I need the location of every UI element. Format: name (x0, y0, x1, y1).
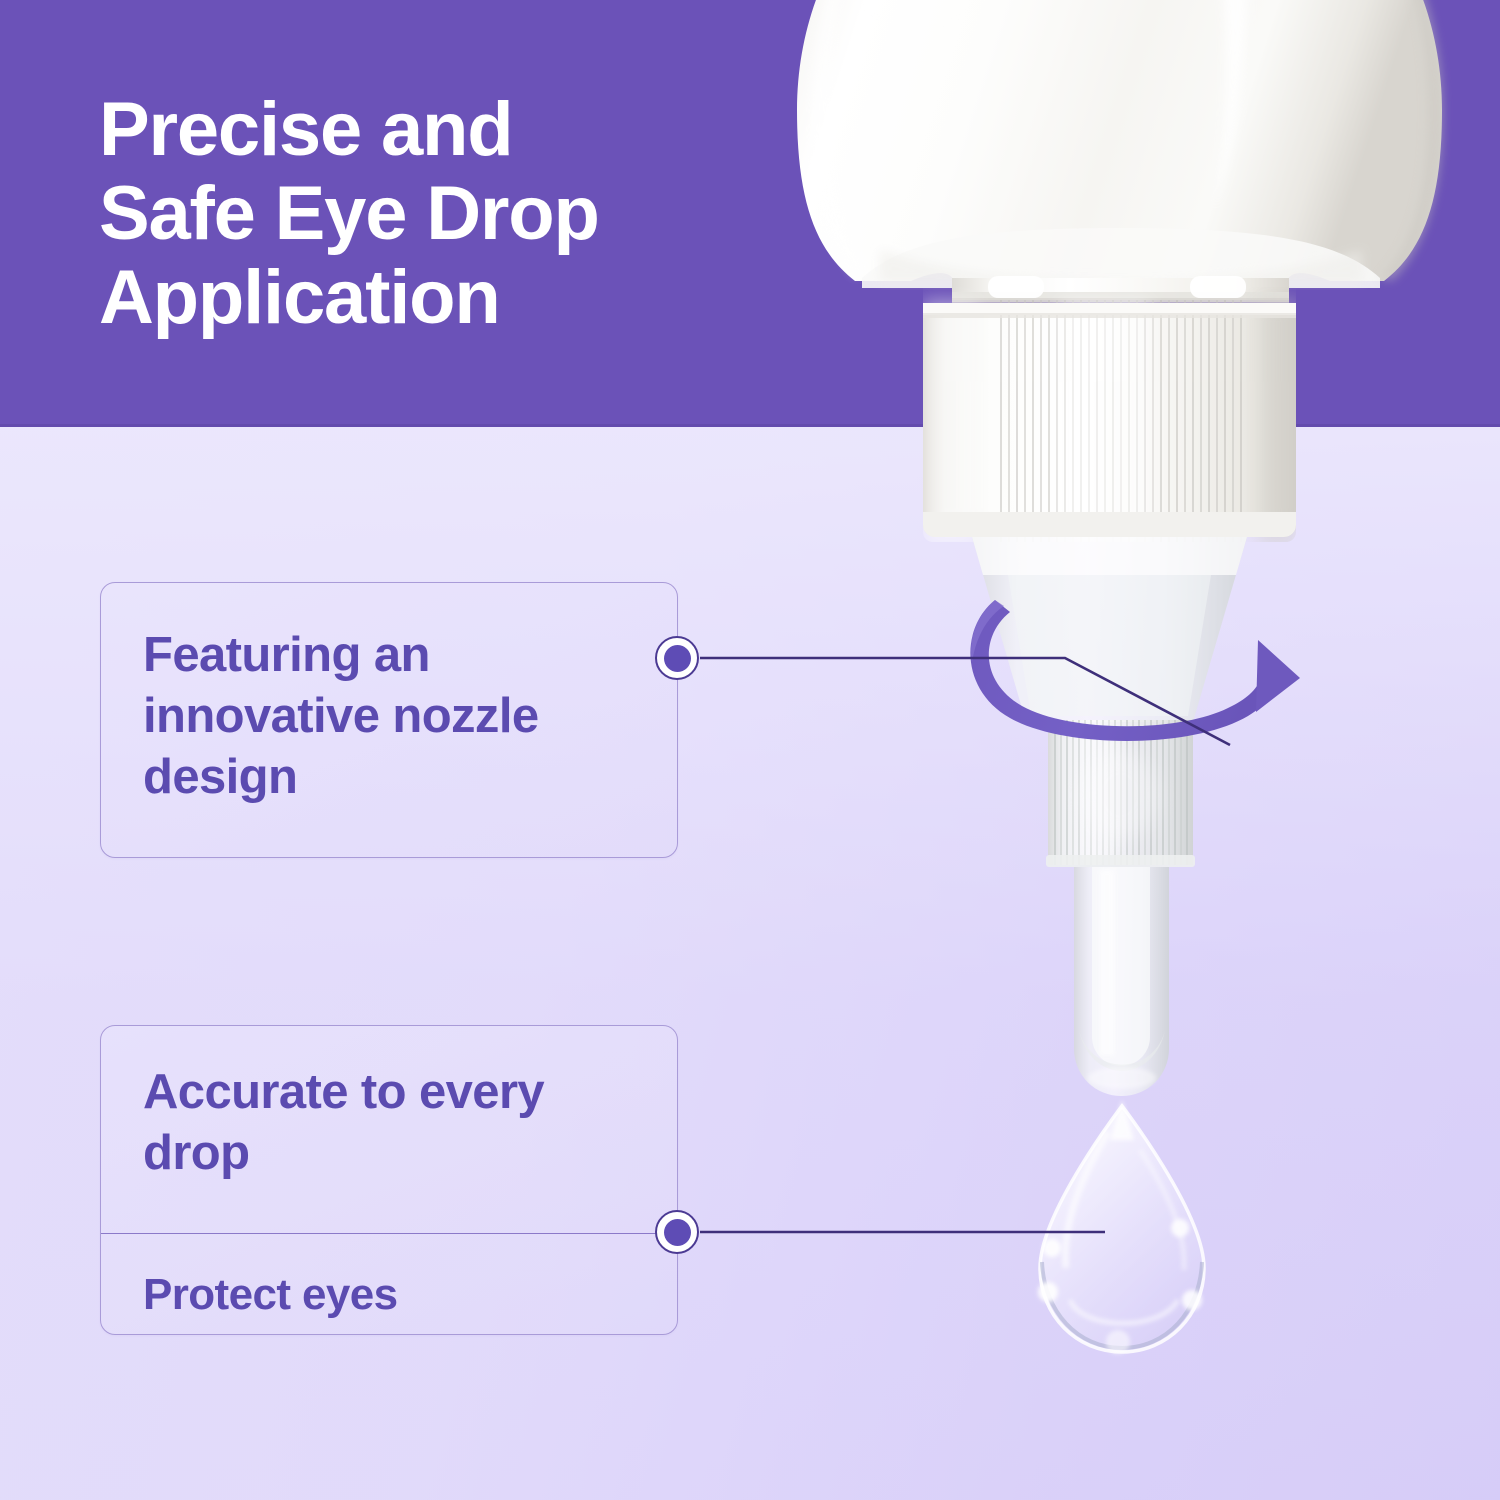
title-line-3: Application (99, 256, 879, 340)
callout-accuracy[interactable]: Accurate to every drop Protect eyes (100, 1025, 678, 1335)
title-line-2: Safe Eye Drop (99, 172, 879, 256)
connector-dot-nozzle[interactable] (655, 636, 699, 680)
callout-2-line-1: Accurate to (143, 1065, 406, 1119)
title-line-1: Precise and (99, 88, 879, 172)
callout-divider (101, 1233, 677, 1234)
infographic-canvas: Precise and Safe Eye Drop Application Fe… (0, 0, 1500, 1500)
callout-accuracy-secondary: Protect eyes (143, 1269, 663, 1321)
callout-accuracy-primary: Accurate to every drop (143, 1062, 663, 1184)
page-title: Precise and Safe Eye Drop Application (99, 88, 879, 340)
callout-1-line-2: innovative (143, 689, 379, 743)
callout-nozzle-design[interactable]: Featuring an innovative nozzle design (100, 582, 678, 858)
connector-dot-droplet[interactable] (655, 1210, 699, 1254)
callout-nozzle-design-text: Featuring an innovative nozzle design (143, 625, 663, 808)
callout-1-line-1: Featuring an (143, 628, 430, 682)
